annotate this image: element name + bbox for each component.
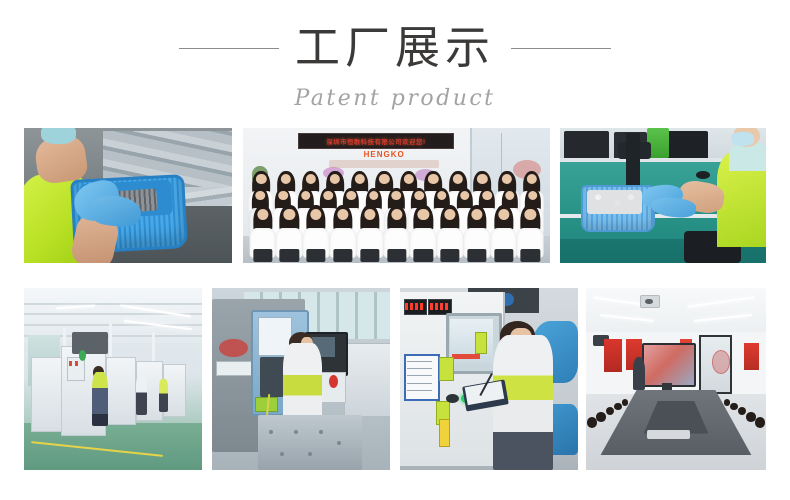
person — [410, 202, 437, 256]
group-row-front — [249, 202, 544, 256]
monitor-left — [564, 131, 609, 161]
person — [249, 202, 276, 256]
red-wall-banner — [744, 343, 758, 370]
door-emblem — [712, 350, 730, 374]
operator-far — [159, 379, 168, 412]
page-title: 工厂展示 — [295, 22, 495, 74]
gallery-bottom-row — [24, 288, 766, 470]
photo-company-group[interactable]: 深圳市恒歌科技有限公司欢迎您! HENGKO — [243, 128, 550, 263]
fixture-bolt — [294, 430, 298, 434]
page-subtitle: Patent product — [0, 86, 790, 111]
person — [276, 202, 303, 256]
operator-foreground — [92, 372, 108, 427]
operator-mid — [136, 375, 147, 415]
sintered-metal-parts — [587, 190, 643, 214]
panel-button — [446, 394, 458, 403]
hmi-status-bar — [452, 354, 480, 359]
presentation-display — [642, 343, 696, 387]
led-welcome-banner: 深圳市恒歌科技有限公司欢迎您! — [298, 133, 454, 149]
document-text-line — [407, 383, 432, 384]
attendees-right — [719, 379, 766, 466]
document-text-line — [407, 375, 432, 376]
gallery-top-row: 深圳市恒歌科技有限公司欢迎您! HENGKO — [24, 128, 766, 263]
document-text-line — [407, 390, 432, 391]
wall-logo-subtext — [329, 160, 440, 168]
warning-sticker — [475, 332, 488, 354]
warning-sticker — [439, 357, 453, 381]
fixture-bolt — [337, 441, 341, 445]
factory-showcase-page: 工厂展示 Patent product — [0, 0, 790, 500]
fixture-bolt — [319, 430, 323, 434]
wall-logo-text: HENGKO — [364, 150, 405, 159]
person — [464, 202, 491, 256]
person — [356, 202, 383, 256]
secondary-machine — [344, 343, 390, 418]
operator-face-mask — [731, 132, 754, 146]
photo-meeting-room[interactable] — [586, 288, 766, 470]
steel-fixture — [258, 415, 361, 470]
document-text-line — [407, 361, 432, 362]
led-banner-text: 深圳市恒歌科技有限公司欢迎您! — [326, 136, 426, 146]
person — [490, 202, 517, 256]
ceiling-beam — [24, 303, 202, 305]
document-text-line — [407, 368, 432, 369]
person — [383, 202, 410, 256]
ceiling — [586, 288, 766, 335]
projector-lens — [645, 299, 652, 304]
person — [517, 202, 544, 256]
photo-control-panel[interactable] — [400, 288, 578, 470]
fixture-bolt — [280, 452, 284, 456]
title-row: 工厂展示 — [0, 18, 790, 78]
person — [437, 202, 464, 256]
person — [303, 202, 330, 256]
photo-cnc-machine[interactable] — [212, 288, 390, 470]
person — [330, 202, 357, 256]
led-readout-left-digits — [405, 303, 423, 310]
presenter — [633, 357, 646, 390]
fixture-bolt — [269, 430, 273, 434]
worker-face-mask — [41, 128, 76, 144]
led-readout-right-digits — [430, 303, 448, 310]
divider-right — [511, 48, 611, 49]
keyboard — [647, 430, 690, 439]
processing-machine — [106, 357, 136, 425]
machine-top-unit — [72, 332, 108, 354]
panel-indicator-lights — [69, 361, 81, 366]
processing-machine — [31, 357, 61, 432]
machine-brand-logo — [219, 339, 247, 357]
photo-production-line[interactable] — [24, 288, 202, 470]
photo-parts-sorting[interactable] — [24, 128, 232, 263]
wall-logo: HENGKO — [347, 150, 421, 159]
red-wall-banner — [604, 339, 622, 372]
divider-left — [179, 48, 279, 49]
yellow-marking-strip — [439, 419, 450, 446]
section-header: 工厂展示 Patent product — [0, 18, 790, 111]
photo-inspection-bench[interactable] — [560, 128, 766, 263]
fixture-bolt — [308, 452, 312, 456]
attendees-left — [586, 379, 633, 466]
machine-name-plate — [216, 361, 254, 376]
